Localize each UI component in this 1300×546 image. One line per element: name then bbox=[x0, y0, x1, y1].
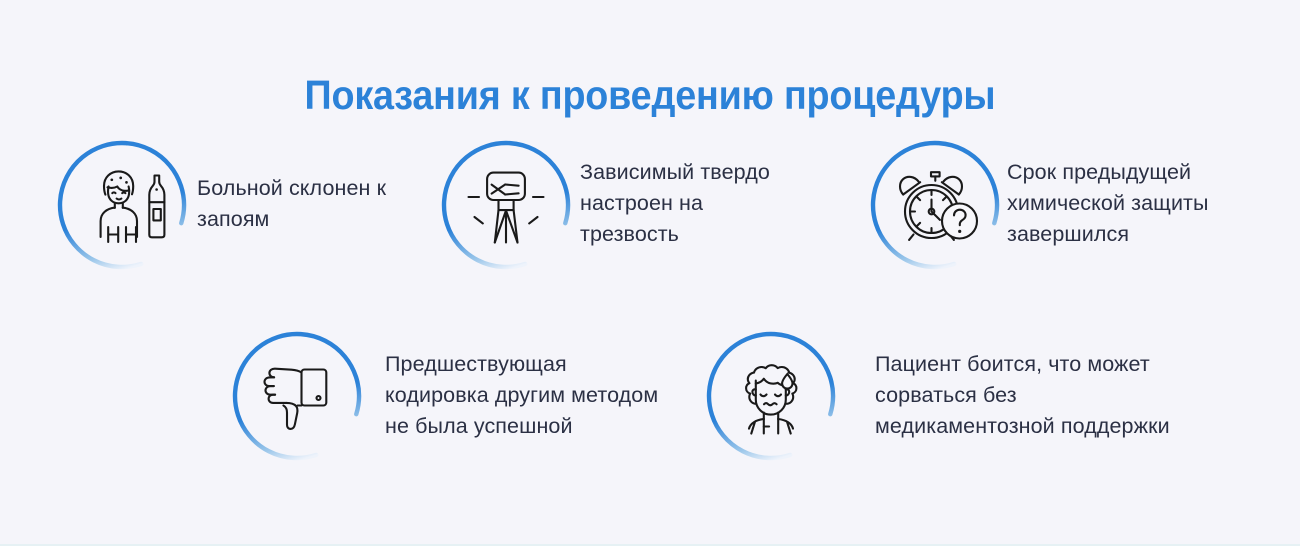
indication-text-2: Зависимый твердо настроен на трезвость bbox=[580, 139, 815, 250]
icon-badge-4 bbox=[231, 330, 363, 462]
indication-text-4: Предшествующая кодировка другим методом … bbox=[385, 330, 715, 442]
indication-item-1: Больной склонен к запоям bbox=[56, 139, 437, 271]
person-with-bottle-icon bbox=[56, 139, 188, 271]
indication-item-4: Предшествующая кодировка другим методом … bbox=[231, 330, 715, 462]
person-arms-crossed-icon bbox=[440, 139, 572, 271]
indication-item-5: Пациент боится, что может сорваться без … bbox=[705, 330, 1235, 462]
alarm-clock-question-icon bbox=[869, 139, 1001, 271]
icon-badge-5 bbox=[705, 330, 837, 462]
icon-badge-1 bbox=[56, 139, 188, 271]
indication-item-2: Зависимый твердо настроен на трезвость bbox=[440, 139, 815, 271]
page-title: Показания к проведению процедуры bbox=[52, 71, 1248, 119]
indication-item-3: Срок предыдущей химической защиты заверш… bbox=[869, 139, 1257, 271]
worried-person-sweat-icon bbox=[705, 330, 837, 462]
icon-badge-3 bbox=[869, 139, 1001, 271]
thumbs-down-icon bbox=[231, 330, 363, 462]
icon-badge-2 bbox=[440, 139, 572, 271]
infographic-canvas: Показания к проведению процедуры bbox=[0, 0, 1300, 546]
indication-text-1: Больной склонен к запоям bbox=[197, 139, 437, 235]
indication-text-3: Срок предыдущей химической защиты заверш… bbox=[1007, 139, 1257, 250]
indication-text-5: Пациент боится, что может сорваться без … bbox=[875, 330, 1235, 442]
